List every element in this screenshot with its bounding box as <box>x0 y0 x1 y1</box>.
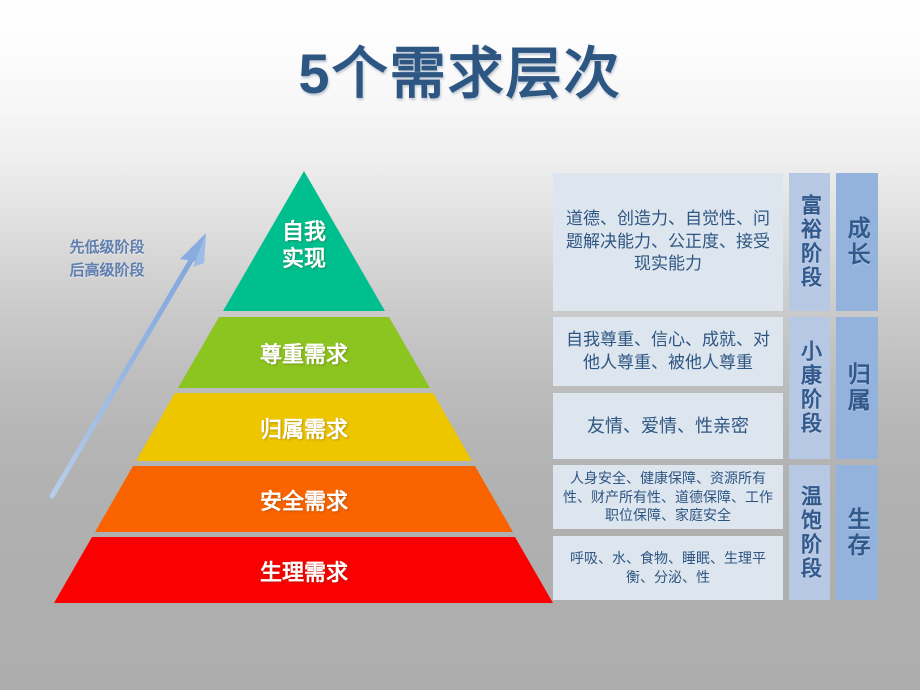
stage-column-item-moderate[interactable]: 小康阶段 <box>789 317 830 459</box>
pyramid-level-label: 自我 实现 <box>44 219 564 273</box>
description-panel-safety: 人身安全、健康保障、资源所有性、财产所有性、道德保障、工作职位保障、家庭安全 <box>553 465 783 529</box>
stage-column-label: 小康阶段 <box>798 340 820 436</box>
pyramid-chart: 自我 实现 尊重需求 归属需求 <box>44 171 564 603</box>
group-column-label: 归属 <box>845 362 869 414</box>
description-panel-self-actualization: 道德、创造力、自觉性、问题解决能力、公正度、接受现实能力 <box>553 173 783 311</box>
pyramid-level-label-line1: 安全需求 <box>260 489 348 514</box>
pyramid-level-physiological[interactable]: 生理需求 <box>44 537 564 603</box>
description-text: 自我尊重、信心、成就、对他人尊重、被他人尊重 <box>559 329 777 375</box>
pyramid-level-label-line1: 自我 <box>44 219 564 246</box>
pyramid-level-self-actualization[interactable]: 自我 实现 <box>44 171 564 311</box>
stage-column-label: 温饱阶段 <box>798 485 820 581</box>
group-column-item-belonging[interactable]: 归属 <box>836 317 878 459</box>
page-title: 5个需求层次 <box>0 42 920 106</box>
group-column-label: 生存 <box>845 507 869 559</box>
pyramid-level-belonging[interactable]: 归属需求 <box>44 393 564 461</box>
group-column-label: 成长 <box>845 216 869 268</box>
pyramid-level-label: 尊重需求 <box>44 337 564 369</box>
description-panel-physiological: 呼吸、水、食物、睡眠、生理平衡、分泌、性 <box>553 536 783 600</box>
slide-canvas: 5个需求层次 先低级阶段 后高级阶段 自我 实现 <box>0 0 920 690</box>
pyramid-level-label-line1: 归属需求 <box>260 417 348 442</box>
stage-column-item-affluent[interactable]: 富裕阶段 <box>789 173 830 311</box>
description-text: 道德、创造力、自觉性、问题解决能力、公正度、接受现实能力 <box>559 208 777 277</box>
group-column-item-growth[interactable]: 成长 <box>836 173 878 311</box>
group-column-item-survival[interactable]: 生存 <box>836 465 878 600</box>
pyramid-level-label-line2: 实现 <box>44 246 564 273</box>
description-text: 呼吸、水、食物、睡眠、生理平衡、分泌、性 <box>559 549 777 587</box>
pyramid-level-label-line1: 尊重需求 <box>260 342 348 367</box>
description-panel-esteem: 自我尊重、信心、成就、对他人尊重、被他人尊重 <box>553 317 783 386</box>
pyramid-level-label: 安全需求 <box>44 484 564 516</box>
description-text: 友情、爱情、性亲密 <box>559 414 777 438</box>
description-text: 人身安全、健康保障、资源所有性、财产所有性、道德保障、工作职位保障、家庭安全 <box>559 469 777 526</box>
pyramid-level-label-line1: 生理需求 <box>260 560 348 585</box>
stage-column-item-subsistence[interactable]: 温饱阶段 <box>789 465 830 600</box>
description-panel-belonging: 友情、爱情、性亲密 <box>553 393 783 459</box>
pyramid-level-label: 生理需求 <box>44 555 564 587</box>
stage-column-label: 富裕阶段 <box>798 194 820 290</box>
pyramid-level-safety[interactable]: 安全需求 <box>44 466 564 532</box>
pyramid-level-esteem[interactable]: 尊重需求 <box>44 317 564 388</box>
pyramid-level-label: 归属需求 <box>44 412 564 444</box>
